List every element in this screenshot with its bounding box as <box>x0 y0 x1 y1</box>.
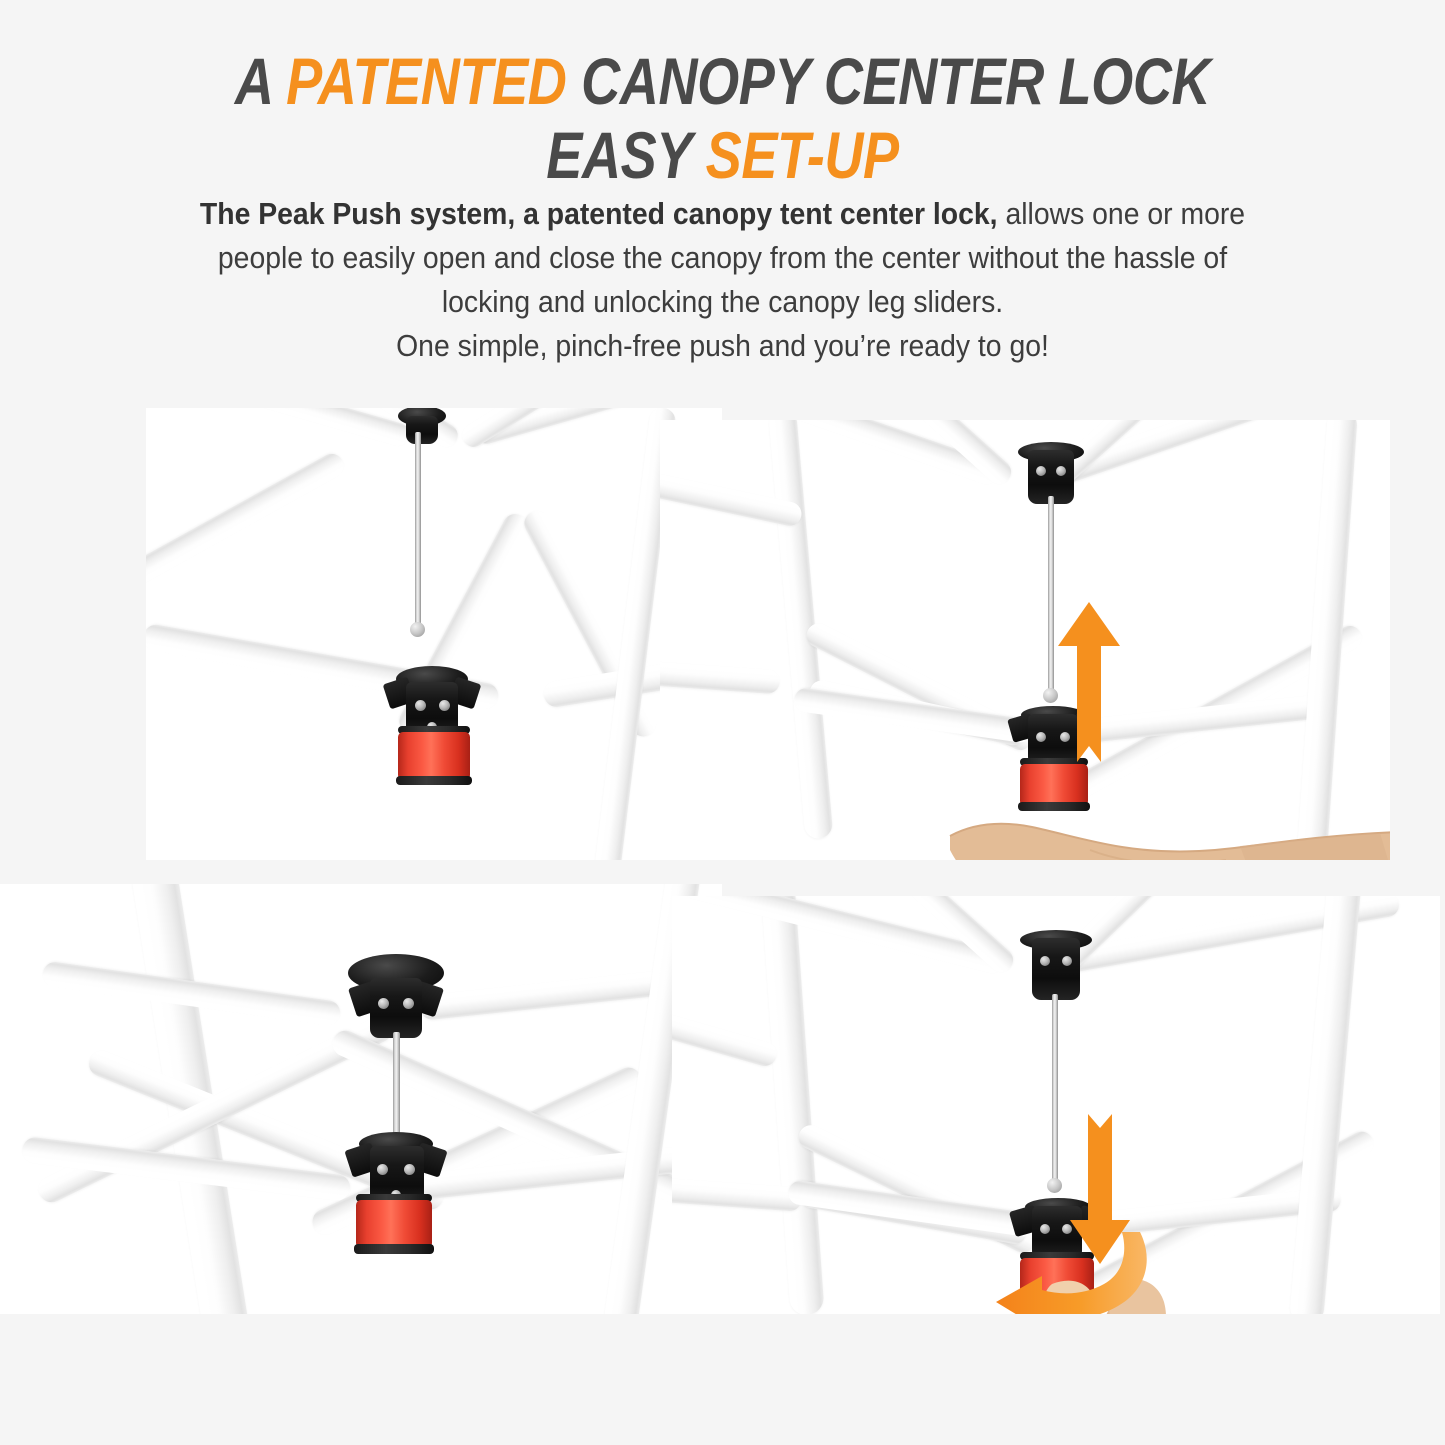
hub-screw <box>415 700 426 711</box>
cylinder-bottom-rim <box>396 776 472 785</box>
rod-tip <box>1047 1178 1062 1193</box>
frame-tube <box>146 408 412 449</box>
panel-3-scene <box>0 884 722 1314</box>
hub-screw <box>1036 732 1046 742</box>
hub-screw <box>403 998 414 1009</box>
description-bold-lead: The Peak Push system, a patented canopy … <box>200 197 998 231</box>
hub-body <box>1032 938 1080 1000</box>
center-push-rod <box>1052 994 1058 1186</box>
frame-tube <box>660 660 780 694</box>
description-rest-line1: allows one or more <box>998 197 1246 231</box>
arrow-up-icon <box>1058 602 1120 762</box>
panel-canopy-frame-locked-closeup: Center lock engaged, upper and lower hub… <box>0 884 722 1314</box>
headline-highlight-setup: SET-UP <box>706 118 899 192</box>
headline-highlight-patented: PATENTED <box>286 44 566 118</box>
upper-lock-hub <box>348 954 444 1038</box>
headline-text-a: A <box>235 44 286 118</box>
center-push-rod <box>1048 496 1054 698</box>
headline-text-b: CANOPY CENTER LOCK <box>566 44 1210 118</box>
hub-screw <box>404 1164 415 1175</box>
panel-hand-push-up: Hand supporting the red push cylinder wi… <box>660 420 1390 860</box>
frame-tube <box>672 1004 779 1068</box>
description-line2: people to easily open and close the cano… <box>136 236 1309 280</box>
cylinder-bottom-rim <box>354 1244 434 1254</box>
upper-lock-hub <box>398 408 446 444</box>
headline-text-c: EASY <box>546 118 705 192</box>
description-paragraph: The Peak Push system, a patented canopy … <box>136 192 1309 368</box>
frame-tube <box>146 450 348 616</box>
hub-screw <box>1036 466 1046 476</box>
hub-screw <box>378 998 389 1009</box>
description-line3: locking and unlocking the canopy leg sli… <box>136 280 1309 324</box>
infographic-page: A PATENTED CANOPY CENTER LOCK EASY SET-U… <box>0 0 1445 1445</box>
headline-line-1: A PATENTED CANOPY CENTER LOCK <box>235 44 1210 118</box>
frame-tube <box>1289 896 1362 1314</box>
page-title: A PATENTED CANOPY CENTER LOCK EASY SET-U… <box>130 44 1315 192</box>
red-push-cylinder <box>356 1200 432 1248</box>
upper-lock-hub <box>1020 930 1092 1000</box>
hub-screw <box>377 1164 388 1175</box>
hub-screw <box>439 700 450 711</box>
rod-tip <box>1043 688 1058 703</box>
headline-line-2: EASY SET-UP <box>130 118 1315 192</box>
frame-tube <box>760 896 825 1314</box>
arrow-twist-icon <box>990 1226 1160 1314</box>
hub-body <box>406 416 438 444</box>
red-push-cylinder <box>398 732 470 780</box>
panel-hands-push-down-twist: Two hands gripping the red push cylinder… <box>672 896 1440 1314</box>
center-push-rod <box>415 432 421 632</box>
hub-screw <box>1040 956 1050 966</box>
panel-2-scene <box>660 420 1390 860</box>
upper-lock-hub <box>1018 442 1084 504</box>
center-push-rod <box>393 1032 400 1140</box>
panel-4-scene <box>672 896 1440 1314</box>
hub-screw <box>1056 466 1066 476</box>
description-line4: One simple, pinch-free push and you’re r… <box>136 324 1309 368</box>
hand-open-palm <box>940 790 1390 860</box>
panel-1-scene <box>146 408 722 860</box>
panel-canopy-frame-open-closeup: Canopy frame with extended center lock, … <box>146 408 722 860</box>
hub-screw <box>1062 956 1072 966</box>
rod-tip <box>410 622 425 637</box>
hub-body <box>370 978 422 1038</box>
